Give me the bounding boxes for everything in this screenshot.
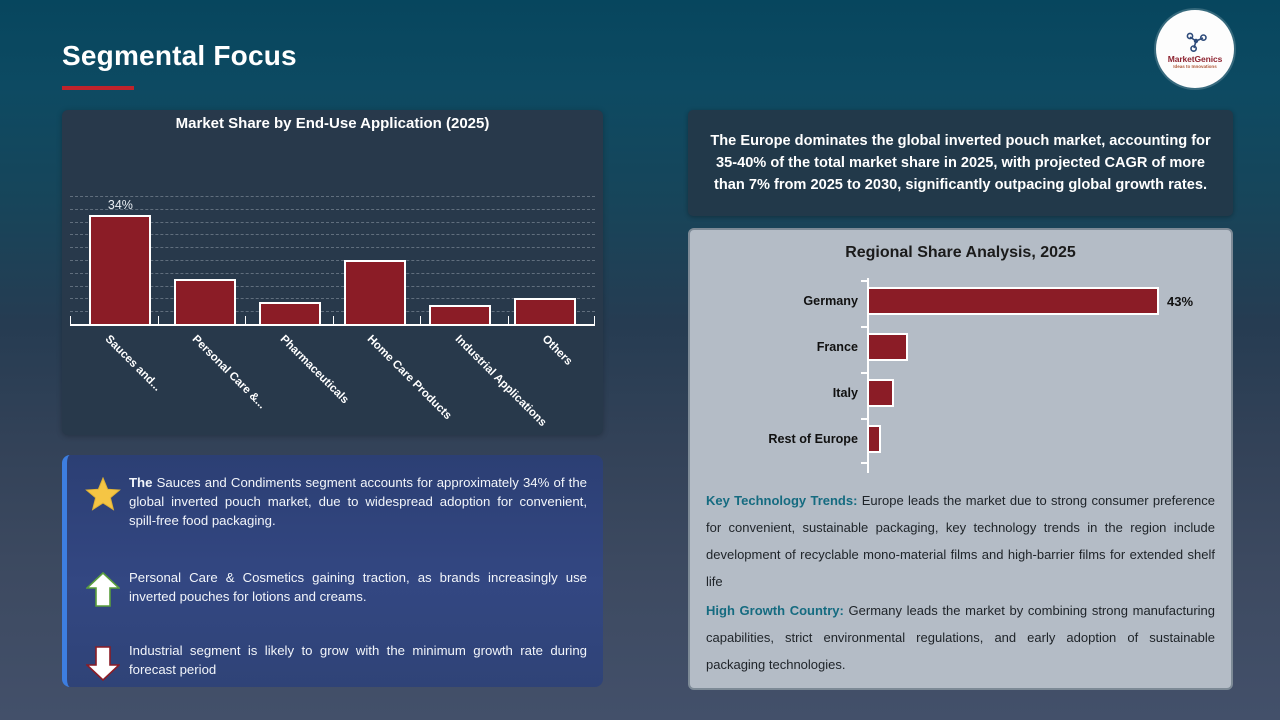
insight-lead-1: The [129,475,157,490]
regional-bar-label: Rest of Europe [702,432,867,446]
y-tick [861,372,869,374]
x-axis-label: Sauces and... [102,333,162,393]
up-arrow-icon [77,568,129,608]
regional-bar [867,425,881,453]
down-arrow-icon [77,641,129,681]
regional-bar-track [867,416,1219,462]
high-growth-country-label: High Growth Country: [706,603,844,618]
x-axis-labels: Sauces and...Personal Care &...Pharmaceu… [70,332,595,422]
europe-callout-text: The Europe dominates the global inverted… [700,130,1221,196]
regional-bar-row: France [702,324,1219,370]
vertical-bar-series: 34% [78,196,587,324]
regional-share-panel: Regional Share Analysis, 2025 Germany43%… [688,228,1233,690]
regional-bar-track [867,324,1219,370]
bar-column [332,260,417,324]
regional-bar [867,333,908,361]
insight-body-1: Sauces and Condiments segment accounts f… [129,475,587,528]
end-use-chart-title: Market Share by End-Use Application (202… [62,115,603,132]
x-axis-line [70,324,595,326]
x-label-slot: Home Care Products [333,332,421,422]
regional-bar [867,379,894,407]
regional-bar-track: 43% [867,278,1219,324]
regional-paragraph-2: High Growth Country: Germany leads the m… [706,597,1215,678]
y-tick [861,462,869,464]
logo-name: MarketGenics [1168,54,1223,64]
regional-paragraph-1: Key Technology Trends: Europe leads the … [706,487,1215,595]
regional-chart-title: Regional Share Analysis, 2025 [702,244,1219,262]
key-technology-trends-label: Key Technology Trends: [706,493,857,508]
regional-bar-label: Germany [702,294,867,308]
star-icon [77,473,129,511]
regional-notes: Key Technology Trends: Europe leads the … [702,487,1219,678]
page-title: Segmental Focus [62,40,297,72]
title-underline-rule [62,86,134,90]
insight-item: Personal Care & Cosmetics gaining tracti… [67,568,603,608]
insight-text-1: The Sauces and Condiments segment accoun… [129,473,589,530]
europe-callout: The Europe dominates the global inverted… [688,110,1233,216]
regional-bar [867,287,1159,315]
regional-bar-label: France [702,340,867,354]
company-logo: MarketGenics Ideas to Innovations [1156,10,1234,88]
insight-text-2: Personal Care & Cosmetics gaining tracti… [129,568,589,606]
insights-card: The Sauces and Condiments segment accoun… [62,455,603,687]
x-label-slot: Sauces and... [70,332,158,422]
bar-column: 34% [78,215,163,324]
regional-bar-label: Italy [702,386,867,400]
insight-item: The Sauces and Condiments segment accoun… [67,473,603,530]
end-use-plot-area: 34% [70,196,595,324]
x-label-slot: Industrial Applications [420,332,508,422]
insight-body-2: Personal Care & Cosmetics gaining tracti… [129,570,587,604]
regional-bar-series: Germany43%FranceItalyRest of Europe [702,278,1219,473]
x-label-slot: Others [508,332,596,422]
regional-bar-row: Italy [702,370,1219,416]
molecule-icon [1181,29,1209,53]
y-tick [861,326,869,328]
insight-body-3: Industrial segment is likely to grow wit… [129,643,587,677]
x-label-slot: Pharmaceuticals [245,332,333,422]
regional-bar-track [867,370,1219,416]
insight-item: Industrial segment is likely to grow wit… [67,641,603,681]
regional-bar-row: Germany43% [702,278,1219,324]
bar [344,260,406,324]
insight-text-3: Industrial segment is likely to grow wit… [129,641,589,679]
logo-tagline: Ideas to Innovations [1173,64,1216,69]
x-label-slot: Personal Care &... [158,332,246,422]
y-tick [861,418,869,420]
regional-bar-value: 43% [1167,294,1193,309]
bar [89,215,151,324]
y-tick [861,280,869,282]
regional-bar-row: Rest of Europe [702,416,1219,462]
end-use-chart-panel: Market Share by End-Use Application (202… [62,110,603,435]
bar-value-label: 34% [108,198,133,212]
x-axis-label: Others [540,333,575,368]
